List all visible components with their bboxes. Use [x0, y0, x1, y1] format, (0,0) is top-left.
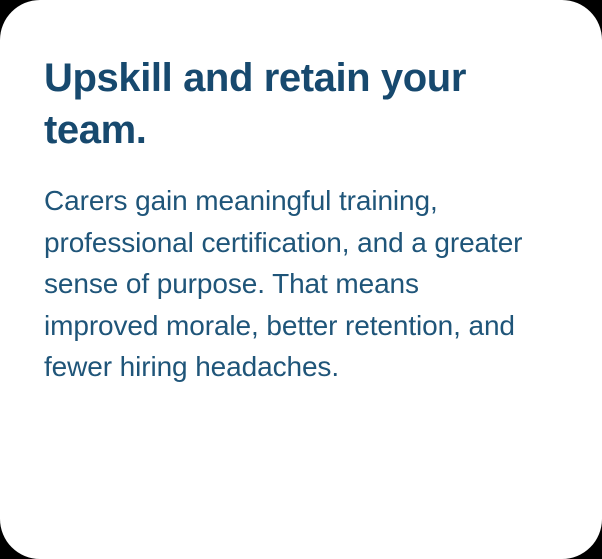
card-body-text: Carers gain meaningful training, profess… [44, 180, 539, 388]
feature-card: Upskill and retain your team. Carers gai… [0, 0, 602, 559]
card-heading: Upskill and retain your team. [44, 52, 544, 156]
